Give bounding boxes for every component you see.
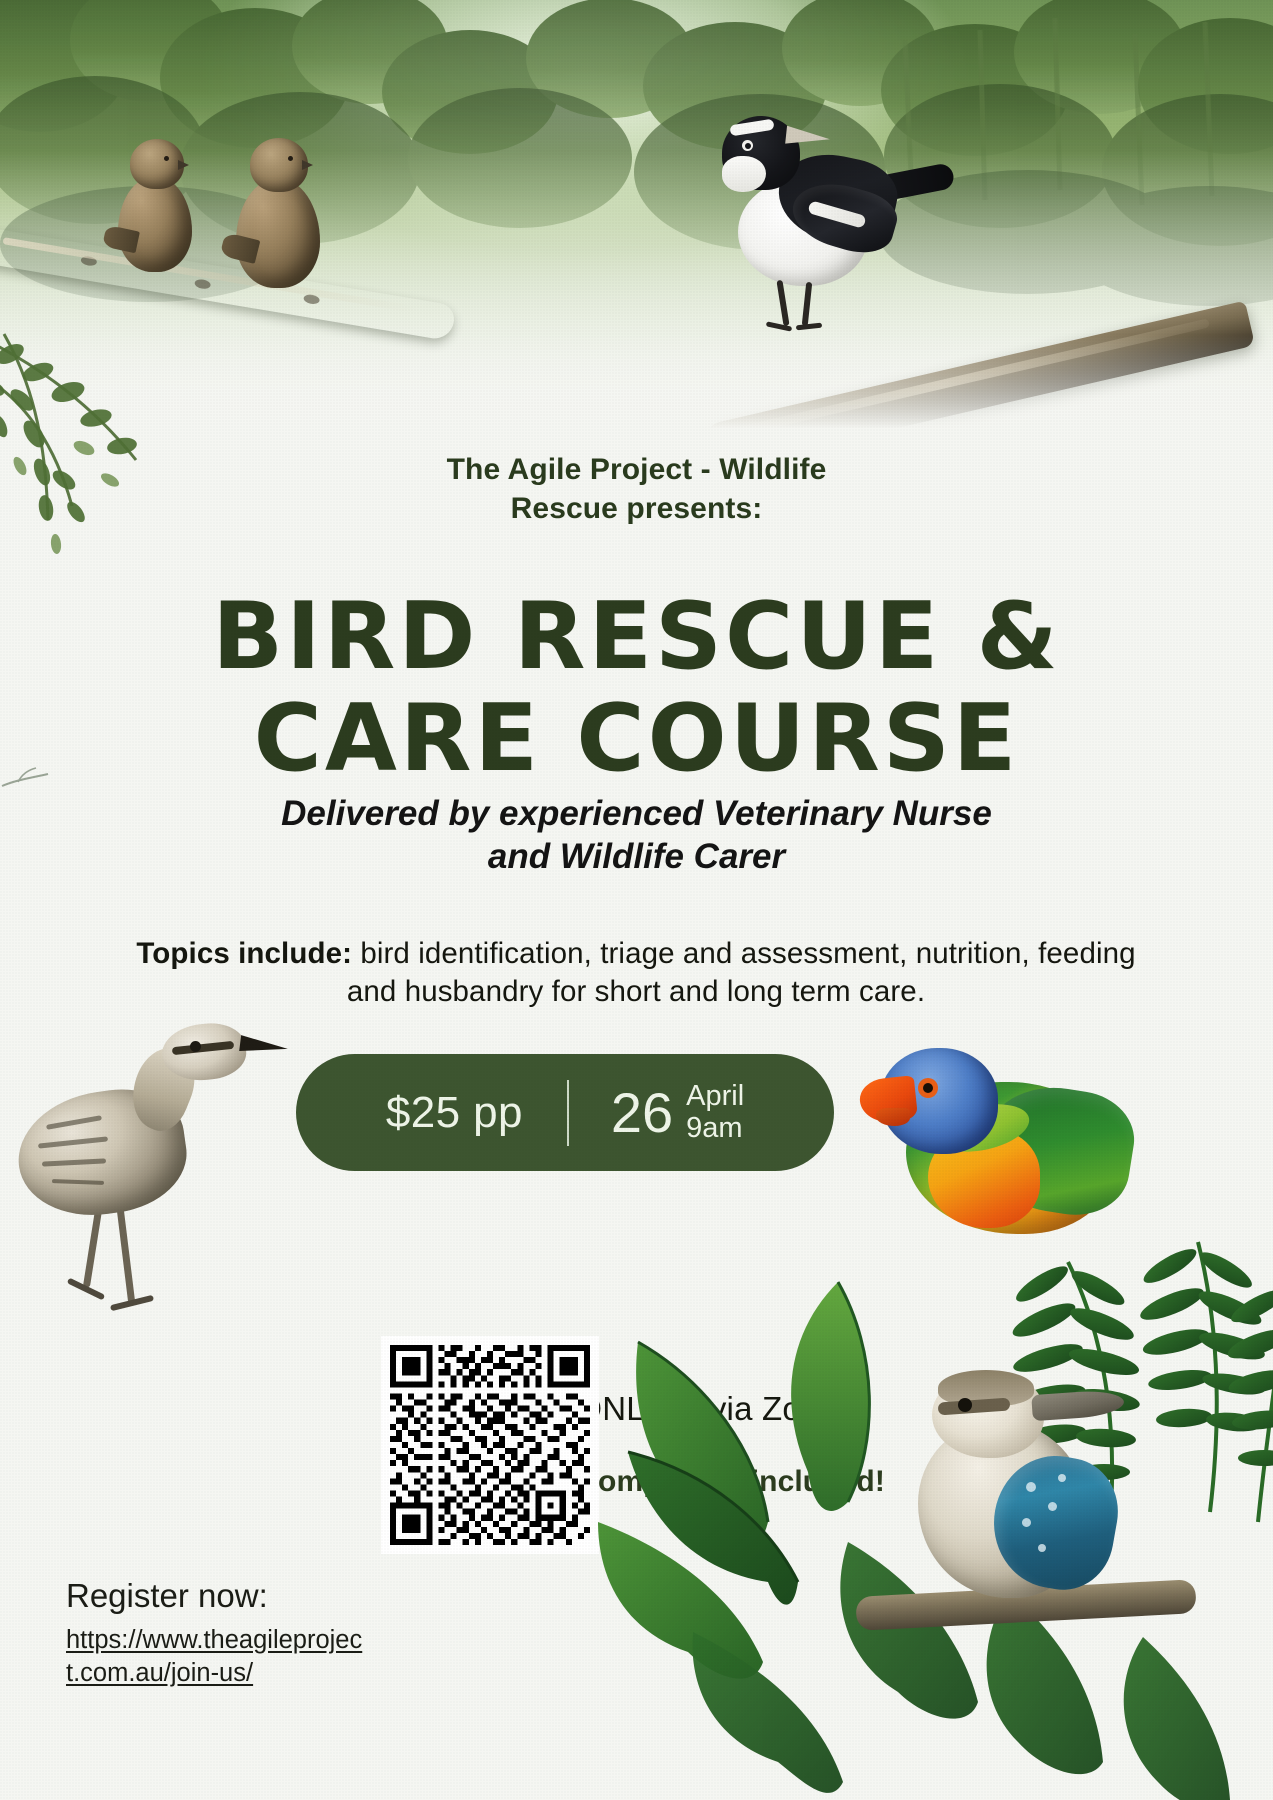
badge-month-time: April 9am xyxy=(686,1081,744,1143)
badge-month: April xyxy=(686,1081,744,1112)
badge-divider xyxy=(567,1080,569,1146)
bush-stone-curlew-chick xyxy=(0,1000,324,1330)
subtitle-line-1: Delivered by experienced Veterinary Nurs… xyxy=(0,793,1273,836)
subtitle-line-2: and Wildlife Carer xyxy=(0,836,1273,879)
topics-label: Topics include: xyxy=(136,937,352,970)
page-title: BIRD RESCUE & CARE COURSE xyxy=(0,591,1273,783)
kookaburra-bird xyxy=(876,1352,1176,1652)
register-label: Register now: xyxy=(66,1578,376,1614)
presenter-heading: The Agile Project - Wildlife Rescue pres… xyxy=(0,452,1273,527)
price-label: $25 pp xyxy=(386,1088,567,1138)
poster-root: The Agile Project - Wildlife Rescue pres… xyxy=(0,0,1273,1800)
badge-day: 26 xyxy=(611,1085,673,1141)
magpie-lark-bird xyxy=(700,82,950,332)
price-date-badge: $25 pp 26 April 9am xyxy=(296,1054,834,1171)
register-block: Register now: https://www.theagileprojec… xyxy=(66,1578,376,1690)
badge-date-group: 26 April 9am xyxy=(569,1081,744,1143)
qr-code[interactable] xyxy=(381,1336,599,1554)
title-line-2: CARE COURSE xyxy=(0,693,1273,784)
title-line-1: BIRD RESCUE & xyxy=(0,591,1273,682)
rainbow-lorikeet xyxy=(862,1036,1162,1246)
presenter-line-1: The Agile Project - Wildlife xyxy=(0,452,1273,489)
subtitle: Delivered by experienced Veterinary Nurs… xyxy=(0,793,1273,878)
presenter-line-2: Rescue presents: xyxy=(0,491,1273,528)
topics-body: bird identification, triage and assessme… xyxy=(347,937,1136,1009)
register-url-link[interactable]: https://www.theagileproject.com.au/join-… xyxy=(66,1624,376,1689)
qr-code-graphic[interactable] xyxy=(390,1345,590,1545)
badge-time: 9am xyxy=(686,1113,744,1144)
